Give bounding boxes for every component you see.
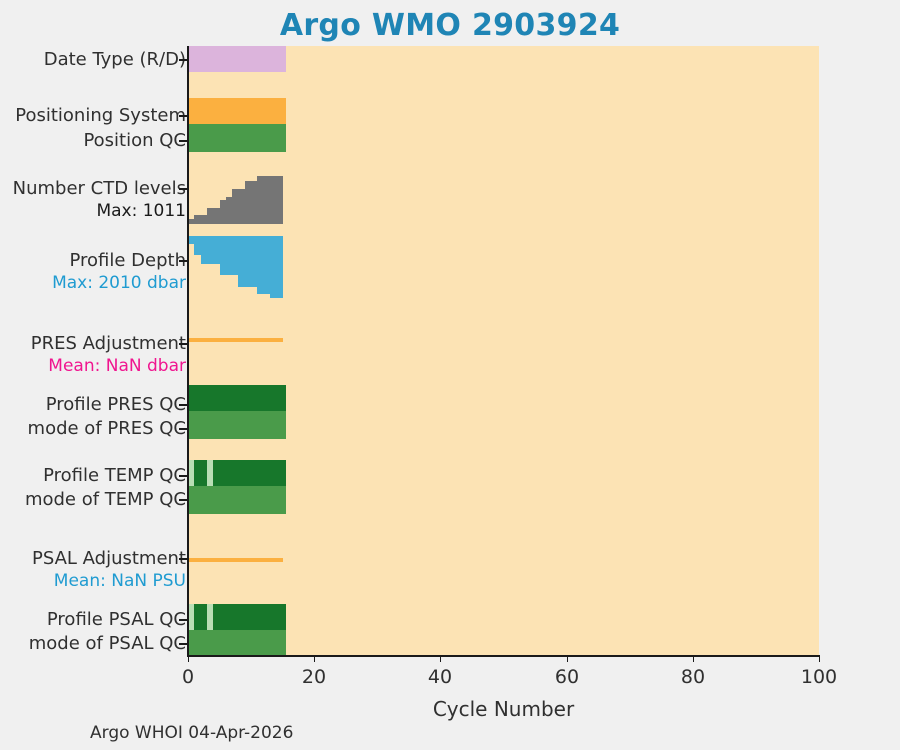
segment-profile-temp-qc [213,460,286,486]
y-tick [179,59,188,61]
x-tick-label: 80 [681,666,705,688]
row-label-text: mode of PRES QC [28,418,186,439]
row-sublabel-text: Mean: NaN dbar [31,355,186,378]
x-tick [819,656,820,662]
y-tick [179,428,188,430]
page-title: Argo WMO 2903924 [0,8,900,43]
row-sublabel-text: Mean: NaN PSU [32,570,186,593]
y-tick [179,260,188,262]
row-sublabel-text: Max: 1011 [13,200,186,223]
line-psal-adjustment [188,558,283,562]
y-tick [179,499,188,501]
row-label-mode-of-psal-qc: mode of PSAL QC [29,632,186,655]
row-label-date-type: Date Type (R/D) [44,48,186,71]
band-date-type [188,46,286,72]
x-axis-line [187,655,820,657]
line-pres-adjustment [188,338,283,342]
y-tick [179,115,188,117]
chart-figure: Argo WMO 2903924 Cycle Number Argo WHOI … [0,0,900,750]
band-mode-of-temp-qc [188,486,286,514]
x-tick-label: 100 [801,666,837,688]
band-mode-of-pres-qc [188,411,286,439]
x-axis-label: Cycle Number [188,697,819,721]
footer-credit: Argo WHOI 04-Apr-2026 [90,723,293,743]
row-label-profile-pres-qc: Profile PRES QC [46,393,186,416]
x-tick [188,656,189,662]
y-tick [179,475,188,477]
row-label-text: Number CTD levels [13,178,186,199]
y-tick [179,619,188,621]
x-tick-label: 20 [302,666,326,688]
row-label-positioning-system: Positioning System [15,104,186,127]
band-mode-of-psal-qc [188,630,286,656]
row-label-text: mode of PSAL QC [29,633,186,654]
y-tick [179,404,188,406]
bar-ctd-levels [276,176,282,224]
row-label-mode-of-temp-qc: mode of TEMP QC [25,488,186,511]
y-tick [179,343,188,345]
row-label-text: PRES Adjustment [31,333,186,354]
row-label-text: Profile PRES QC [46,394,186,415]
row-label-text: Date Type (R/D) [44,49,186,70]
row-sublabel-text: Max: 2010 dbar [52,272,186,295]
plot-area [188,46,819,656]
x-tick-label: 0 [182,666,194,688]
y-tick [179,188,188,190]
band-profile-pres-qc [188,385,286,411]
y-tick [179,558,188,560]
row-label-text: Position QC [83,130,186,151]
y-axis-line [187,46,189,656]
bar-profile-depth [276,236,282,298]
row-label-text: Profile PSAL QC [47,609,186,630]
x-tick [440,656,441,662]
x-tick [693,656,694,662]
row-label-position-qc: Position QC [83,129,186,152]
band-positioning-system [188,98,286,124]
row-label-text: PSAL Adjustment [32,548,186,569]
band-position-qc [188,124,286,152]
x-tick [314,656,315,662]
row-label-text: mode of TEMP QC [25,489,186,510]
x-tick-label: 60 [555,666,579,688]
x-tick [567,656,568,662]
y-tick [179,643,188,645]
row-label-profile-psal-qc: Profile PSAL QC [47,608,186,631]
segment-profile-temp-qc [194,460,207,486]
row-label-profile-temp-qc: Profile TEMP QC [43,464,186,487]
row-label-psal-adjustment: PSAL AdjustmentMean: NaN PSU [32,547,186,593]
row-label-number-ctd-levels: Number CTD levelsMax: 1011 [13,177,186,223]
row-label-text: Positioning System [15,105,186,126]
row-label-profile-depth: Profile DepthMax: 2010 dbar [52,249,186,295]
x-tick-label: 40 [428,666,452,688]
row-label-pres-adjustment: PRES AdjustmentMean: NaN dbar [31,332,186,378]
y-tick [179,140,188,142]
row-label-text: Profile TEMP QC [43,465,186,486]
segment-profile-psal-qc [194,604,207,630]
row-label-text: Profile Depth [69,250,186,271]
row-label-mode-of-pres-qc: mode of PRES QC [28,417,186,440]
segment-profile-psal-qc [213,604,286,630]
